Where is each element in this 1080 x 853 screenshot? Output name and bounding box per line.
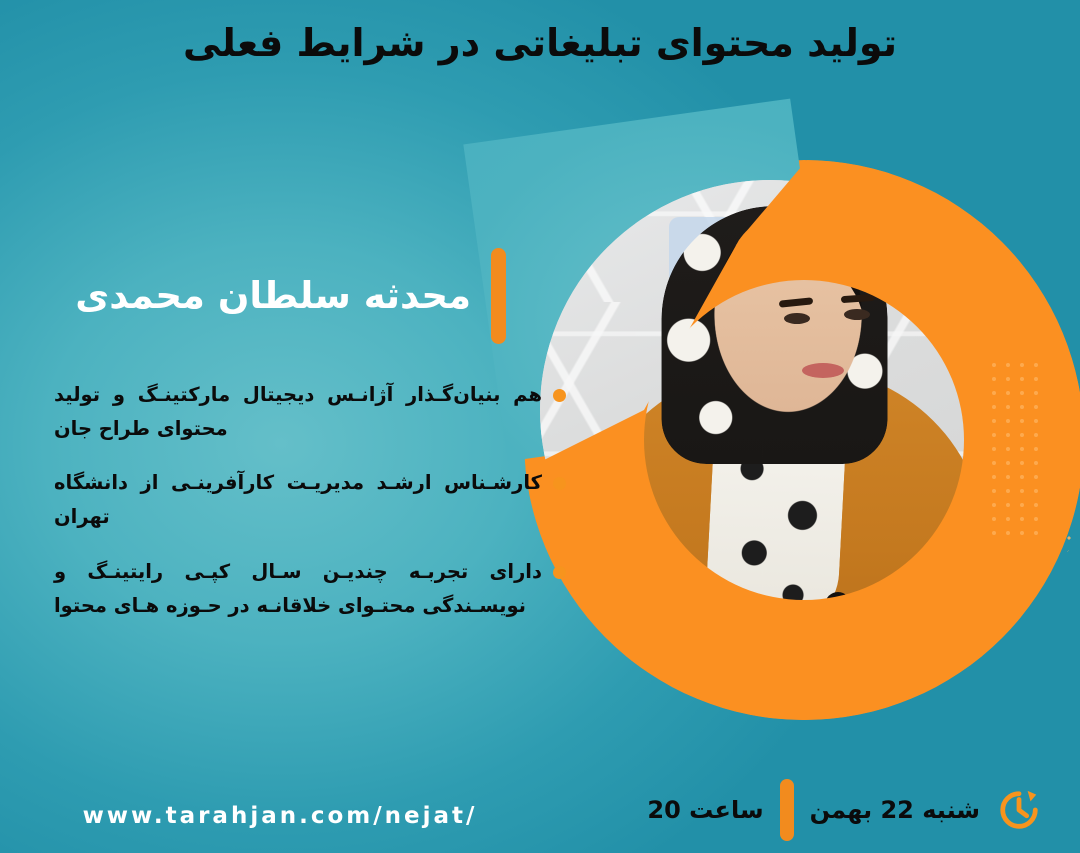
- photo-person-eye: [784, 313, 810, 324]
- poster-canvas: تولید محتوای تبلیغاتی در شرایط فعلی محدث…: [0, 0, 1080, 853]
- photo-person-eye: [844, 309, 870, 320]
- list-item: هم بنیان‌گـذار آژانـس دیجیتال مارکتینـگ …: [54, 378, 566, 446]
- page-title: تولید محتوای تبلیغاتی در شرایط فعلی: [60, 18, 1020, 69]
- clock-icon: [996, 787, 1042, 833]
- dot-pattern-decoration: [992, 335, 1078, 565]
- event-time: ساعت 20: [647, 796, 763, 824]
- bullet-dot-icon: [553, 566, 566, 579]
- list-item: کارشـناس ارشـد مدیریـت کارآفرینـی از دان…: [54, 466, 566, 534]
- photo-person-lips: [802, 363, 844, 378]
- list-item-text: هم بنیان‌گـذار آژانـس دیجیتال مارکتینـگ …: [54, 383, 542, 440]
- speaker-name-block: محدثه سلطان محمدی: [75, 248, 506, 344]
- event-schedule: شنبه 22 بهمن ساعت 20: [647, 779, 1042, 841]
- event-date: شنبه 22 بهمن: [810, 796, 980, 824]
- list-item: دارای تجربـه چندیـن سـال کپـی رایتینـگ و…: [54, 555, 566, 623]
- accent-bar: [491, 248, 506, 344]
- speaker-bio-list: هم بنیان‌گـذار آژانـس دیجیتال مارکتینـگ …: [54, 378, 566, 643]
- speaker-name: محدثه سلطان محمدی: [75, 276, 471, 317]
- speaker-photo: [540, 180, 1000, 640]
- bullet-dot-icon: [553, 389, 566, 402]
- photo-person-headscarf-accent: [734, 220, 854, 260]
- accent-bar: [780, 779, 794, 841]
- list-item-text: دارای تجربـه چندیـن سـال کپـی رایتینـگ و…: [54, 560, 542, 617]
- bullet-dot-icon: [553, 477, 566, 490]
- list-item-text: کارشـناس ارشـد مدیریـت کارآفرینـی از دان…: [54, 471, 542, 528]
- photo-person-button: [825, 592, 851, 618]
- website-url[interactable]: www.tarahjan.com/nejat/: [0, 803, 560, 829]
- footer-bar: شنبه 22 بهمن ساعت 20 www.tarahjan.com/ne…: [0, 767, 1080, 853]
